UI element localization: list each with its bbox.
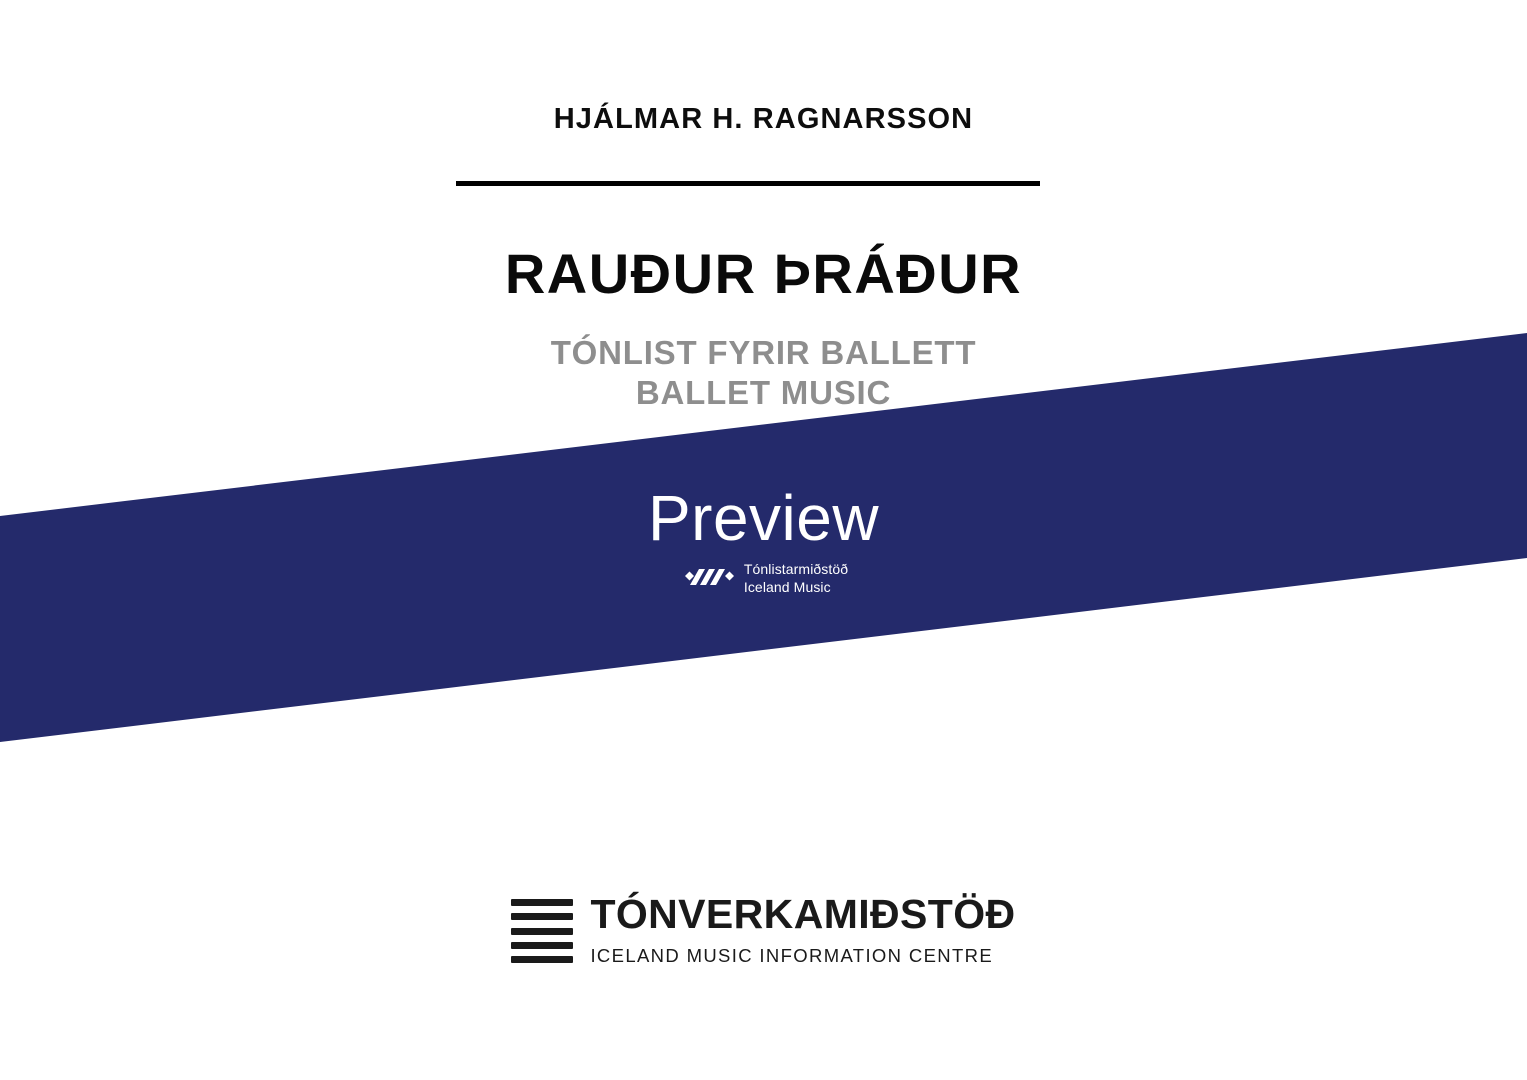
iceland-music-logo-line-2: Iceland Music bbox=[744, 579, 831, 595]
work-title: RAUÐUR ÞRÁÐUR bbox=[0, 243, 1527, 306]
imic-footer-logo-inner: TÓNVERKAMIÐSTÖÐ ICELAND MUSIC INFORMATIO… bbox=[511, 893, 1015, 967]
title-divider-rule bbox=[456, 181, 1040, 186]
imic-organisation-name: TÓNVERKAMIÐSTÖÐ bbox=[590, 893, 1015, 936]
imic-footer-logo: TÓNVERKAMIÐSTÖÐ ICELAND MUSIC INFORMATIO… bbox=[0, 893, 1527, 967]
preview-label: Preview bbox=[0, 486, 1527, 550]
imic-organisation-name-english: ICELAND MUSIC INFORMATION CENTRE bbox=[590, 945, 993, 967]
staff-line bbox=[511, 913, 573, 920]
work-subtitle-icelandic: TÓNLIST FYRIR BALLETT bbox=[0, 333, 1527, 373]
preview-banner-content: Preview Tónlistarmiðstöð Iceland Music bbox=[0, 486, 1527, 598]
iceland-music-logo-line-1: Tónlistarmiðstöð bbox=[744, 561, 848, 577]
composer-name: HJÁLMAR H. RAGNARSSON bbox=[0, 104, 1527, 136]
iceland-music-logo: Tónlistarmiðstöð Iceland Music bbox=[679, 561, 848, 598]
iceland-music-logo-text: Tónlistarmiðstöð Iceland Music bbox=[744, 561, 848, 598]
iceland-music-slashes-mark bbox=[679, 565, 735, 594]
staff-line bbox=[511, 899, 573, 906]
score-cover-page: HJÁLMAR H. RAGNARSSON RAUÐUR ÞRÁÐUR TÓNL… bbox=[0, 0, 1527, 1080]
imic-footer-text: TÓNVERKAMIÐSTÖÐ ICELAND MUSIC INFORMATIO… bbox=[590, 893, 1015, 967]
staff-line bbox=[511, 928, 573, 935]
work-subtitle-english: BALLET MUSIC bbox=[0, 373, 1527, 413]
staff-line bbox=[511, 956, 573, 963]
staff-lines-icon bbox=[511, 897, 573, 963]
staff-line bbox=[511, 942, 573, 949]
